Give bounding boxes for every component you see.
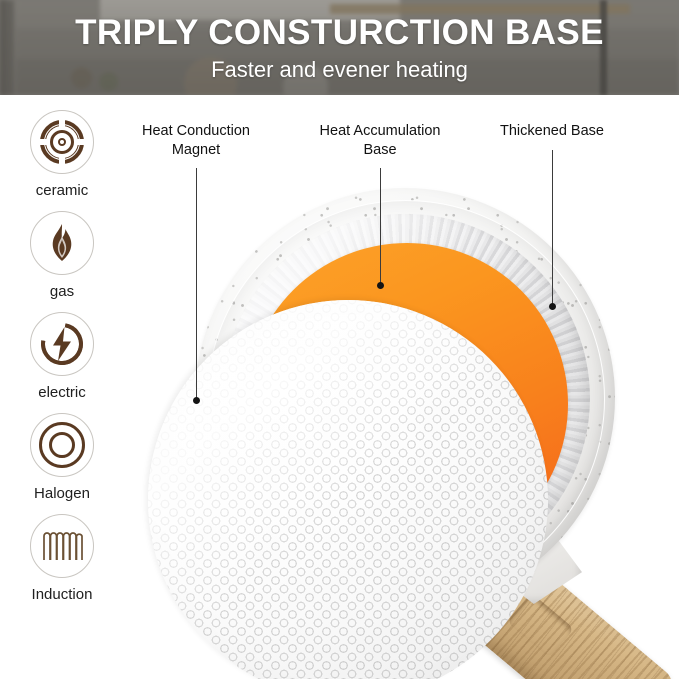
ceramic-cross-horizontal — [36, 139, 88, 145]
callout-thickened-base: Thickened Base — [476, 122, 628, 141]
leader-dot-magnet — [193, 397, 200, 404]
coil-glyph — [40, 529, 84, 563]
callout-line-1: Thickened Base — [476, 122, 628, 141]
flame-glyph — [45, 223, 79, 263]
sidebar-label-gas: gas — [50, 284, 74, 299]
sidebar-item-halogen[interactable]: Halogen — [0, 413, 124, 501]
callout-heat-accumulation-base: Heat Accumulation Base — [304, 122, 456, 159]
bolt-glyph — [50, 326, 74, 362]
sidebar-item-gas[interactable]: gas — [0, 211, 124, 299]
cooktop-compatibility-list: ceramic gas electric — [0, 110, 124, 615]
infographic-canvas: TRIPLY CONSTURCTION BASE Faster and even… — [0, 0, 679, 679]
gas-flame-icon — [30, 211, 94, 275]
sidebar-label-electric: electric — [38, 385, 86, 400]
sidebar-label-ceramic: ceramic — [36, 183, 89, 198]
induction-coil-icon — [30, 514, 94, 578]
sidebar-label-halogen: Halogen — [34, 486, 90, 501]
ceramic-center-dot — [58, 138, 66, 146]
callout-line-2: Magnet — [120, 141, 272, 160]
sidebar-item-electric[interactable]: electric — [0, 312, 124, 400]
leader-line-thickened — [552, 150, 553, 306]
leader-dot-thickened — [549, 303, 556, 310]
magnet-sheen-highlight — [148, 300, 548, 679]
callout-line-2: Base — [304, 141, 456, 160]
ceramic-inner-ring — [45, 125, 79, 159]
ceramic-cross-vertical — [59, 116, 65, 168]
callout-line-1: Heat Conduction — [120, 122, 272, 141]
heat-conduction-magnet-layer — [148, 300, 548, 679]
halogen-rings-icon — [30, 413, 94, 477]
leader-line-accumulation — [380, 168, 381, 285]
leader-dot-accumulation — [377, 282, 384, 289]
sidebar-item-induction[interactable]: Induction — [0, 514, 124, 602]
callout-line-1: Heat Accumulation — [304, 122, 456, 141]
callout-heat-conduction-magnet: Heat Conduction Magnet — [120, 122, 272, 159]
sidebar-label-induction: Induction — [32, 587, 93, 602]
ceramic-cooktop-icon — [30, 110, 94, 174]
sidebar-item-ceramic[interactable]: ceramic — [0, 110, 124, 198]
electric-bolt-icon — [30, 312, 94, 376]
leader-line-magnet — [196, 168, 197, 400]
